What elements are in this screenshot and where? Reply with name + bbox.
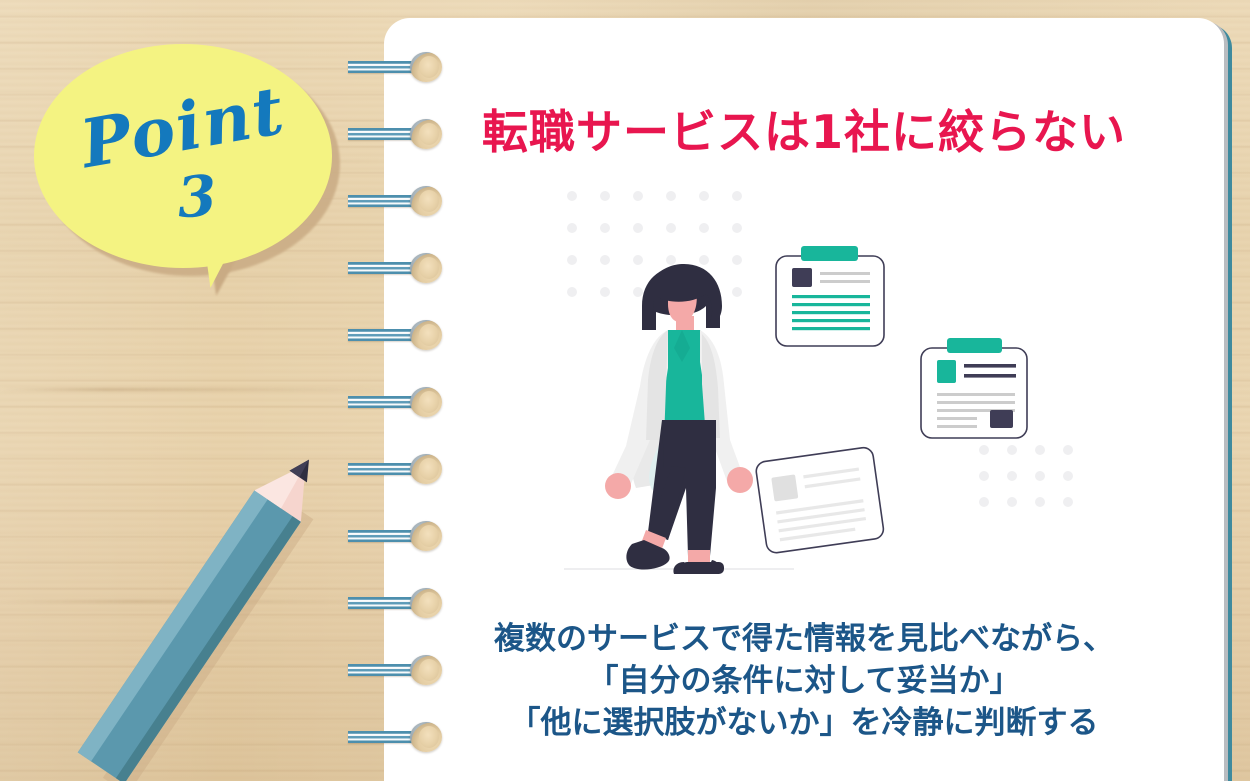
ring-bead <box>410 320 442 350</box>
pencil-illustration <box>60 430 360 781</box>
spiral-ring <box>348 722 444 752</box>
ring-bead <box>410 521 442 551</box>
caption-line-3: 「他に選択肢がないか」を冷静に判断する <box>384 702 1224 744</box>
ring-bead <box>410 722 442 752</box>
point-number: 3 <box>150 161 244 233</box>
page-surface: 転職サービスは1社に絞らない <box>384 18 1224 781</box>
spiral-ring <box>348 521 444 551</box>
ring-bead <box>410 387 442 417</box>
spiral-ring <box>348 186 444 216</box>
caption-line-1: 複数のサービスで得た情報を見比べながら、 <box>384 618 1224 660</box>
woman-character <box>605 264 753 574</box>
spiral-ring <box>348 454 444 484</box>
caption-line-2: 「自分の条件に対して妥当か」 <box>384 660 1224 702</box>
spiral-ring <box>348 253 444 283</box>
page-title: 転職サービスは1社に絞らない <box>384 96 1224 162</box>
ring-bead <box>410 253 442 283</box>
clipboard-top-illustration <box>776 246 884 346</box>
ring-bead <box>410 655 442 685</box>
spiral-ring <box>348 655 444 685</box>
spiral-ring <box>348 320 444 350</box>
ring-bead <box>410 52 442 82</box>
spiral-ring <box>348 588 444 618</box>
point-badge: Point 3 <box>34 44 340 276</box>
ring-bead <box>410 186 442 216</box>
notebook-page: 転職サービスは1社に絞らない <box>384 18 1232 781</box>
illustration-woman-walking-with-documents <box>564 188 1084 598</box>
ring-bead <box>410 454 442 484</box>
dot-grid-bottom-icon <box>979 445 1073 507</box>
page-caption: 複数のサービスで得た情報を見比べながら、 「自分の条件に対して妥当か」 「他に選… <box>384 618 1224 744</box>
spiral-ring <box>348 52 444 82</box>
tilted-card-illustration <box>755 446 885 554</box>
clipboard-right-illustration <box>921 338 1027 438</box>
ring-bead <box>410 119 442 149</box>
spiral-ring <box>348 119 444 149</box>
spiral-ring <box>348 387 444 417</box>
ring-bead <box>410 588 442 618</box>
pencil-icon <box>60 430 360 781</box>
